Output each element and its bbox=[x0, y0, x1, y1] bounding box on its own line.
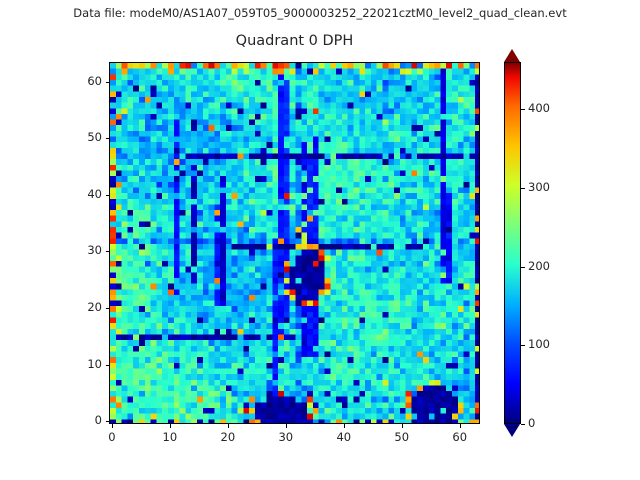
x-tick-label: 10 bbox=[150, 430, 190, 444]
y-tick-label: 0 bbox=[60, 413, 102, 427]
y-tick-label: 10 bbox=[60, 357, 102, 371]
y-tick-mark bbox=[106, 82, 110, 83]
colorbar bbox=[504, 62, 521, 424]
y-tick-label: 30 bbox=[60, 243, 102, 257]
x-tick-label: 50 bbox=[382, 430, 422, 444]
colorbar-tick-label: 200 bbox=[528, 259, 550, 273]
data-file-label: Data file: modeM0/AS1A07_059T05_90000032… bbox=[0, 6, 640, 20]
colorbar-tick-mark bbox=[521, 267, 525, 268]
x-tick-mark bbox=[344, 424, 345, 428]
y-tick-label: 60 bbox=[60, 74, 102, 88]
colorbar-tick-label: 400 bbox=[528, 101, 550, 115]
page-title: Quadrant 0 DPH bbox=[109, 33, 480, 49]
y-tick-mark bbox=[106, 421, 110, 422]
x-tick-mark bbox=[286, 424, 287, 428]
colorbar-tick-mark bbox=[521, 188, 525, 189]
colorbar-under-arrow bbox=[504, 424, 520, 437]
colorbar-gradient bbox=[504, 62, 521, 424]
colorbar-tick-mark bbox=[521, 424, 525, 425]
colorbar-tick-mark bbox=[521, 109, 525, 110]
colorbar-tick-label: 100 bbox=[528, 337, 550, 351]
x-tick-label: 60 bbox=[440, 430, 480, 444]
colorbar-tick-mark bbox=[521, 345, 525, 346]
colorbar-tick-label: 0 bbox=[528, 416, 535, 430]
x-tick-label: 30 bbox=[266, 430, 306, 444]
matplotlib-figure: Data file: modeM0/AS1A07_059T05_90000032… bbox=[0, 0, 640, 480]
y-tick-mark bbox=[106, 195, 110, 196]
x-tick-label: 20 bbox=[208, 430, 248, 444]
x-tick-label: 0 bbox=[92, 430, 132, 444]
x-tick-mark bbox=[460, 424, 461, 428]
y-tick-mark bbox=[106, 138, 110, 139]
y-tick-label: 20 bbox=[60, 300, 102, 314]
x-tick-mark bbox=[402, 424, 403, 428]
x-tick-mark bbox=[228, 424, 229, 428]
y-tick-mark bbox=[106, 308, 110, 309]
colorbar-tick-label: 300 bbox=[528, 180, 550, 194]
detector-dph-heatmap bbox=[110, 63, 480, 424]
y-tick-mark bbox=[106, 365, 110, 366]
x-tick-label: 40 bbox=[324, 430, 364, 444]
y-tick-label: 50 bbox=[60, 130, 102, 144]
heatmap-axes bbox=[109, 62, 480, 424]
x-tick-mark bbox=[112, 424, 113, 428]
colorbar-over-arrow bbox=[504, 49, 520, 62]
y-tick-mark bbox=[106, 251, 110, 252]
x-tick-mark bbox=[170, 424, 171, 428]
y-tick-label: 40 bbox=[60, 187, 102, 201]
